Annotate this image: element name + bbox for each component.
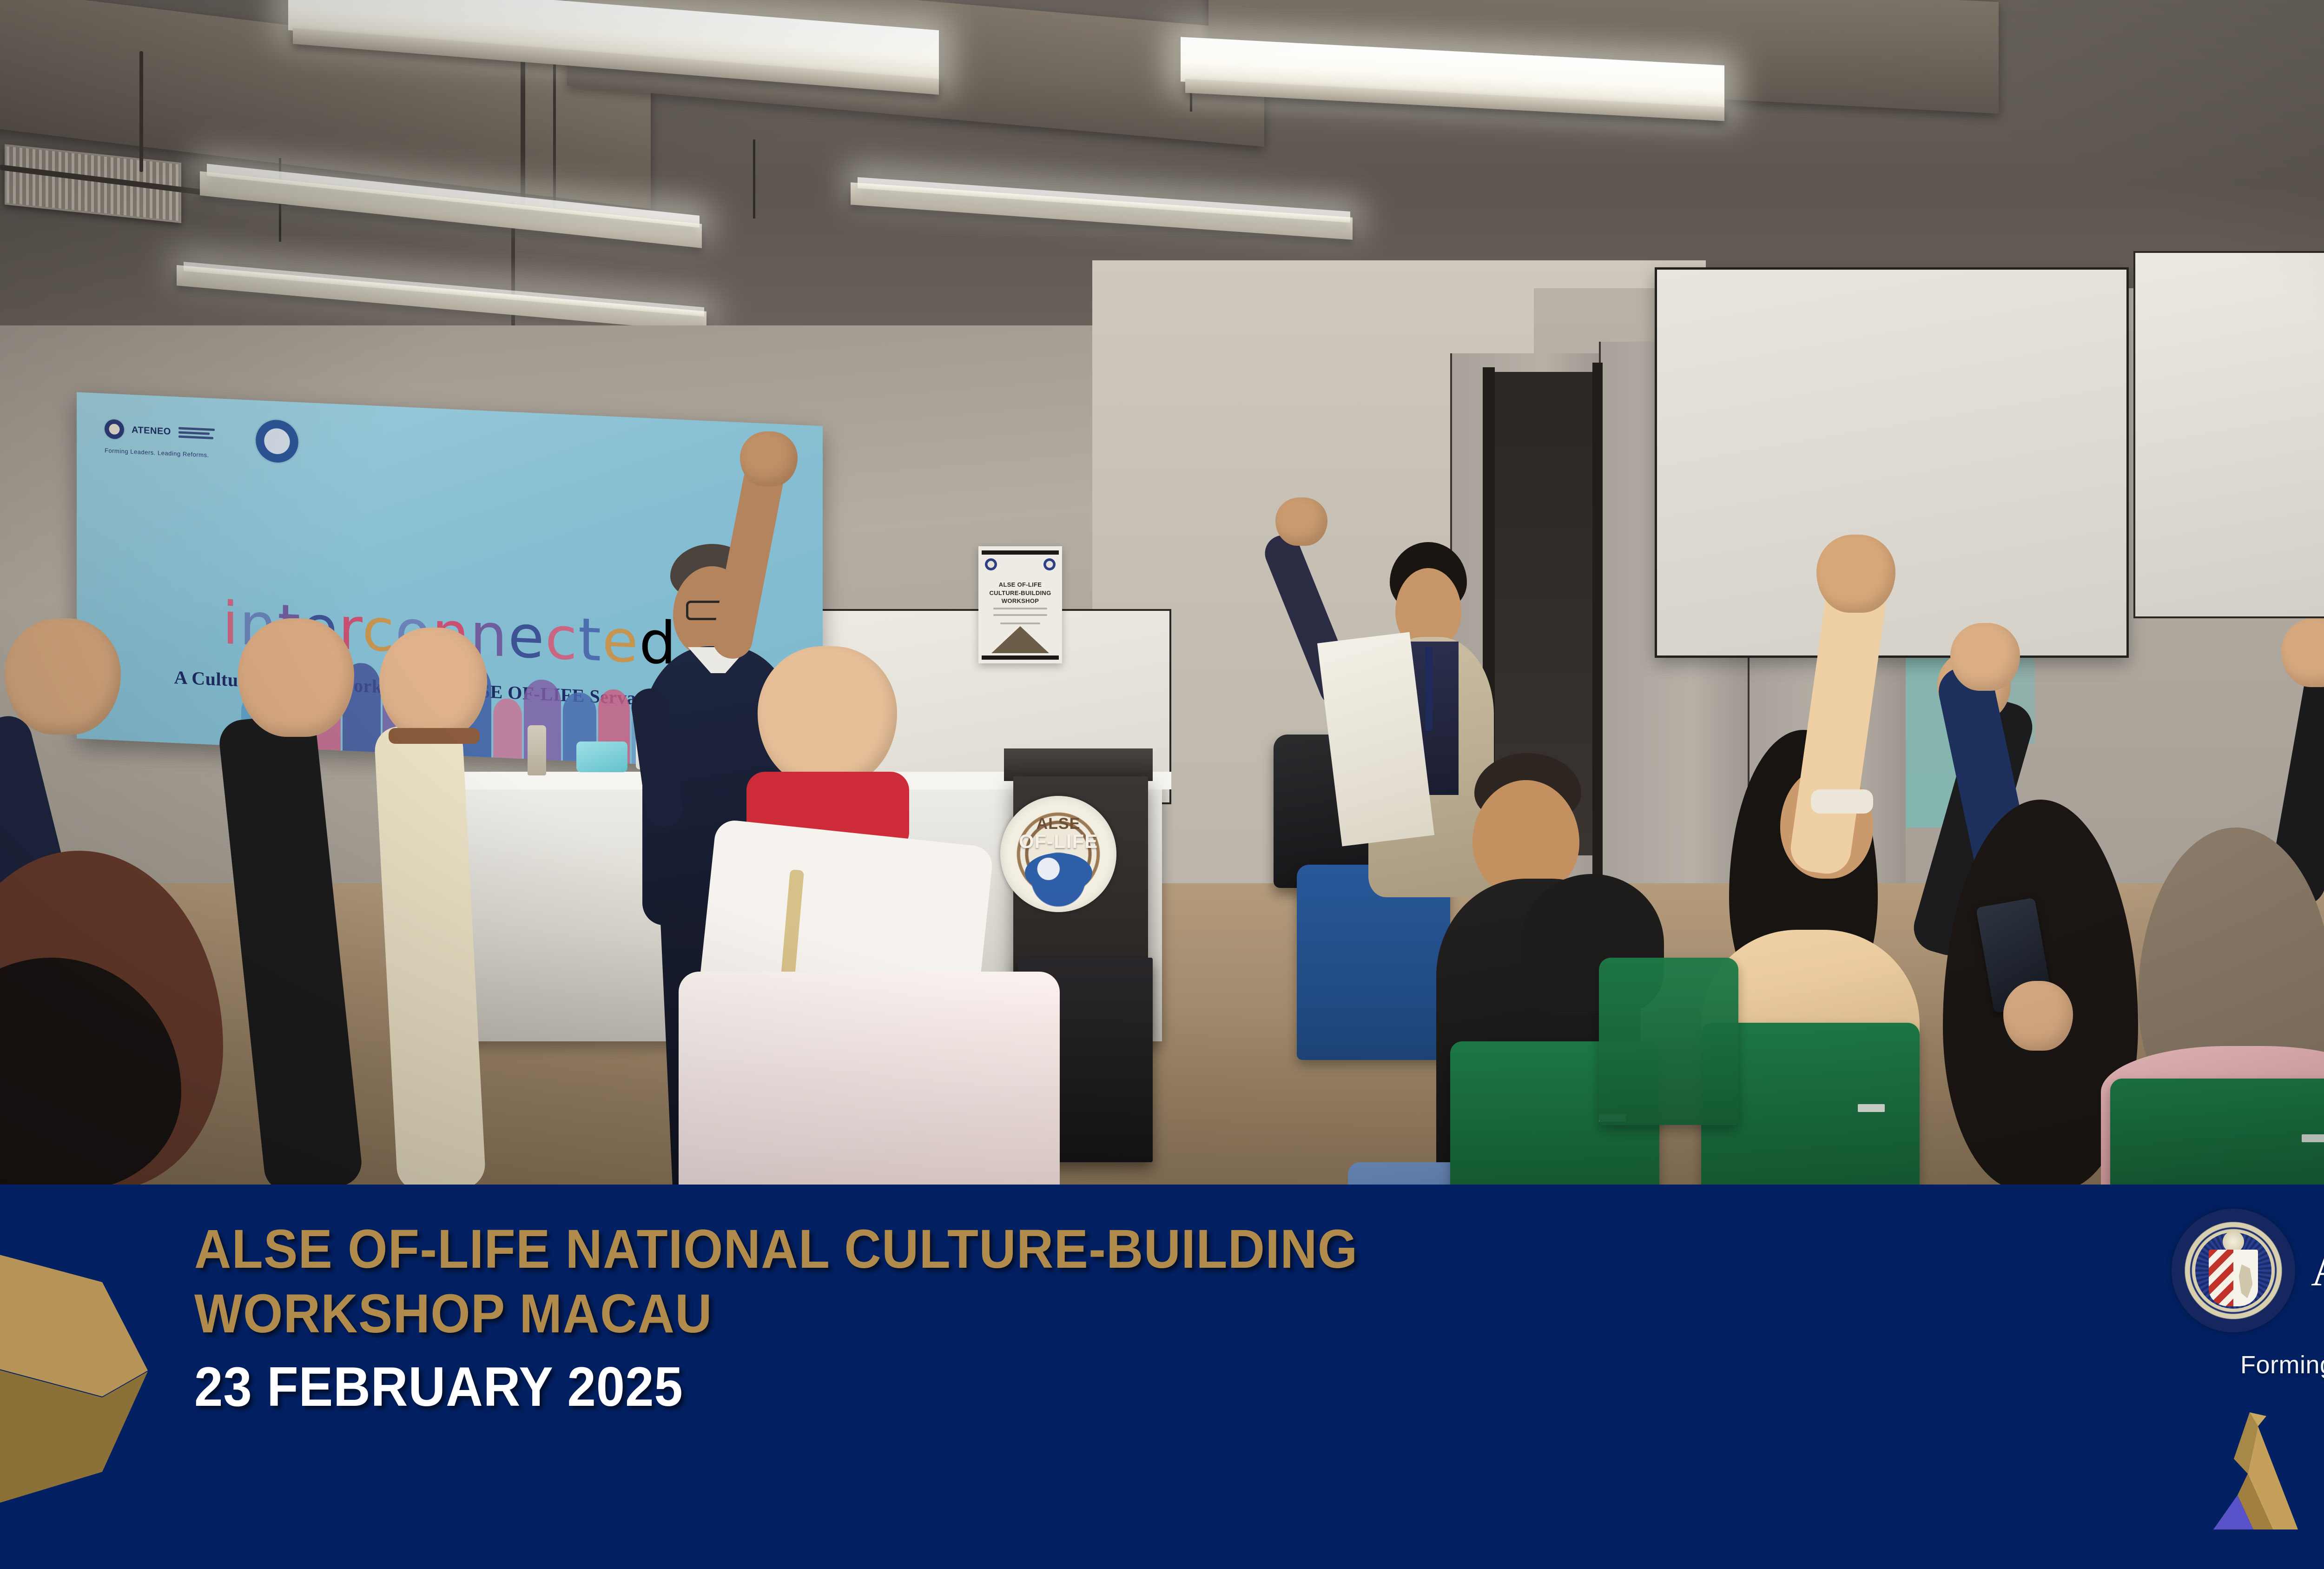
lectern-seal-globe-icon	[1025, 853, 1092, 893]
exec-ed-logo-lockup: EXECUTIVE EDUCATION	[2203, 1404, 2324, 1529]
ateneo-de-manila-seal-icon	[2172, 1209, 2295, 1332]
slide-asog-lines-icon	[178, 427, 215, 439]
foreground-white-sleeve	[679, 972, 1060, 1185]
poster-top-bar	[982, 550, 1059, 555]
facilitator-raised-fist	[740, 431, 798, 486]
audience-wristband-3	[389, 728, 480, 744]
ceiling-conduit-2	[521, 42, 525, 209]
asog-tagline: Forming Leaders. Leading Reforms.	[2240, 1351, 2324, 1379]
pulldown-projection-screen	[1655, 267, 2129, 658]
female-facilitator-lanyard	[1425, 647, 1433, 731]
stacking-chair-4	[2110, 1079, 2324, 1185]
poster-text-line-3	[1000, 622, 1040, 624]
lectern-seal-line2: OF-LIFE	[1019, 832, 1098, 851]
audience-fist-6	[1950, 623, 2020, 691]
ceiling-conduit-1	[139, 51, 143, 172]
banner-title-line-2: WORKSHOP MACAU	[194, 1282, 1358, 1346]
wall-poster: ALSE OF-LIFE CULTURE-BUILDING WORKSHOP	[978, 546, 1062, 663]
banner-title-line-1: ALSE OF-LIFE NATIONAL CULTURE-BUILDING	[194, 1217, 1358, 1282]
seal-shield-stripes	[2209, 1250, 2233, 1306]
whiteboard-right-upper	[2133, 251, 2324, 618]
audience-fist-4	[758, 646, 897, 786]
slide-canvas: ALSE OF-LIFE CULTURE-BUILDING WORKSHOP A…	[0, 0, 2324, 1569]
poster-logo-left	[985, 558, 997, 570]
tissue-pack	[576, 741, 627, 772]
bottle	[528, 725, 546, 775]
audience-hand-holding-phone	[2003, 981, 2073, 1051]
banner-title-block: ALSE OF-LIFE NATIONAL CULTURE-BUILDING W…	[194, 1217, 1446, 1419]
seated-woman-wrist-cuff	[1811, 789, 1873, 814]
poster-text-line-2	[993, 614, 1047, 616]
executive-education-a-mark-icon	[2203, 1404, 2319, 1529]
poster-title: ALSE OF-LIFE CULTURE-BUILDING WORKSHOP	[978, 581, 1062, 605]
asog-logo-lockup: ATENEO ATENEO SCHOOL OF GOVERNMENT	[2172, 1209, 2324, 1332]
lectern-seal-line1: ALSE	[1037, 816, 1081, 832]
light-hanger-2	[753, 139, 755, 218]
audience-fist-2	[238, 618, 354, 737]
door-frame-dark-2	[1592, 363, 1603, 883]
seal-shield-icon	[2209, 1250, 2258, 1306]
poster-line2: CULTURE-BUILDING	[989, 589, 1051, 596]
seal-shield-wolf	[2233, 1250, 2258, 1306]
chair-label	[2302, 1134, 2324, 1142]
poster-bottom-bar	[982, 655, 1059, 660]
poster-text-line-1	[993, 608, 1047, 609]
lectern-alse-of-life-seal: ALSE OF-LIFE	[1000, 796, 1116, 912]
audience-fist-3	[379, 628, 487, 739]
chair-label	[1858, 1104, 1885, 1112]
banner-event-date: 23 FEBRUARY 2025	[194, 1355, 1346, 1419]
poster-graphic-shape	[991, 626, 1049, 653]
slide-ateneo-wordmark: ATENEO	[132, 424, 171, 437]
poster-line3: WORKSHOP	[1002, 597, 1039, 604]
female-facilitator-raised-fist	[1275, 497, 1327, 546]
seated-woman-raised-fist	[1816, 535, 1895, 613]
stacking-chair-3	[1599, 958, 1738, 1125]
audience-fist-1	[5, 618, 121, 735]
event-photograph: ALSE OF-LIFE CULTURE-BUILDING WORKSHOP A…	[0, 0, 2324, 1185]
poster-line1: ALSE OF-LIFE	[999, 581, 1042, 588]
ateneo-wordmark: ATENEO	[2311, 1248, 2324, 1293]
gold-chevron-graphic	[0, 1253, 148, 1504]
poster-logo-right	[1043, 558, 1056, 570]
slide-ateneo-seal-icon	[105, 419, 124, 439]
